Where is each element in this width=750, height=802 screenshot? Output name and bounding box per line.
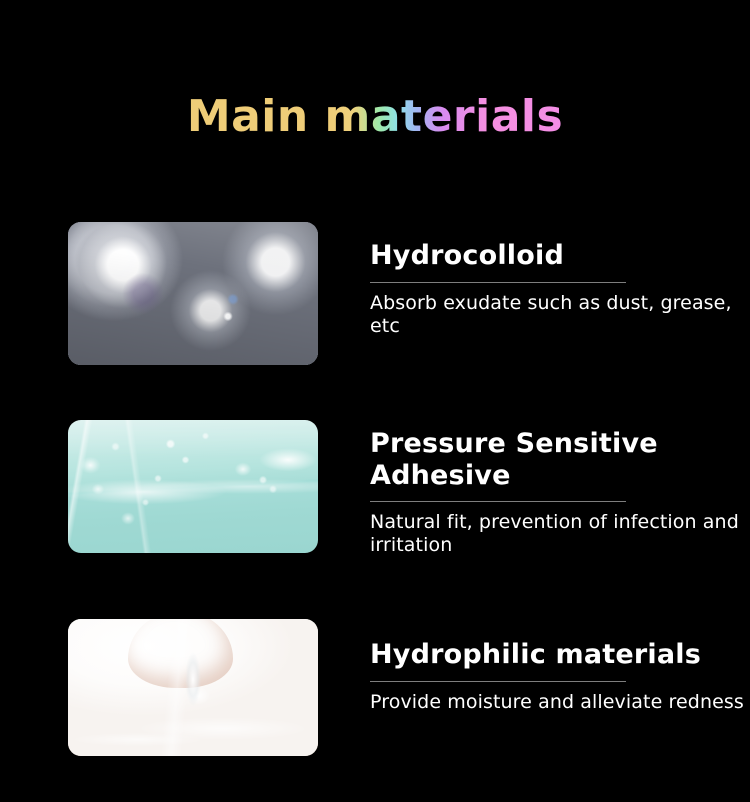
material-text-hydrophilic-materials: Hydrophilic materials Provide moisture a… xyxy=(370,619,750,714)
material-title: Hydrophilic materials xyxy=(370,639,750,671)
material-description: Provide moisture and alleviate redness xyxy=(370,691,750,714)
teal-gel-image-art xyxy=(68,420,318,553)
page-title: Main materials xyxy=(187,93,563,141)
material-item-hydrophilic-materials: Hydrophilic materials Provide moisture a… xyxy=(0,619,750,756)
material-title: Hydrocolloid xyxy=(370,240,750,272)
materials-list: Hydrocolloid Absorb exudate such as dust… xyxy=(0,222,750,756)
title-divider xyxy=(370,501,626,502)
material-text-hydrocolloid: Hydrocolloid Absorb exudate such as dust… xyxy=(370,222,750,338)
material-text-pressure-sensitive-adhesive: Pressure Sensitive Adhesive Natural fit,… xyxy=(370,420,750,557)
material-item-pressure-sensitive-adhesive: Pressure Sensitive Adhesive Natural fit,… xyxy=(0,420,750,557)
title-divider xyxy=(370,282,626,283)
material-title: Pressure Sensitive Adhesive xyxy=(370,428,750,491)
title-section: Main materials xyxy=(0,0,750,170)
teal-gel-photo xyxy=(68,420,318,553)
material-item-hydrocolloid: Hydrocolloid Absorb exudate such as dust… xyxy=(0,222,750,365)
finger-gel-on-skin-photo xyxy=(68,619,318,756)
material-description: Absorb exudate such as dust, grease, etc xyxy=(370,292,750,338)
hydrocolloid-beads-photo xyxy=(68,222,318,365)
material-description: Natural fit, prevention of infection and… xyxy=(370,511,750,557)
hydrocolloid-beads-image-art xyxy=(68,222,318,365)
finger-gel-on-skin-image-art xyxy=(68,619,318,756)
title-divider xyxy=(370,681,626,682)
